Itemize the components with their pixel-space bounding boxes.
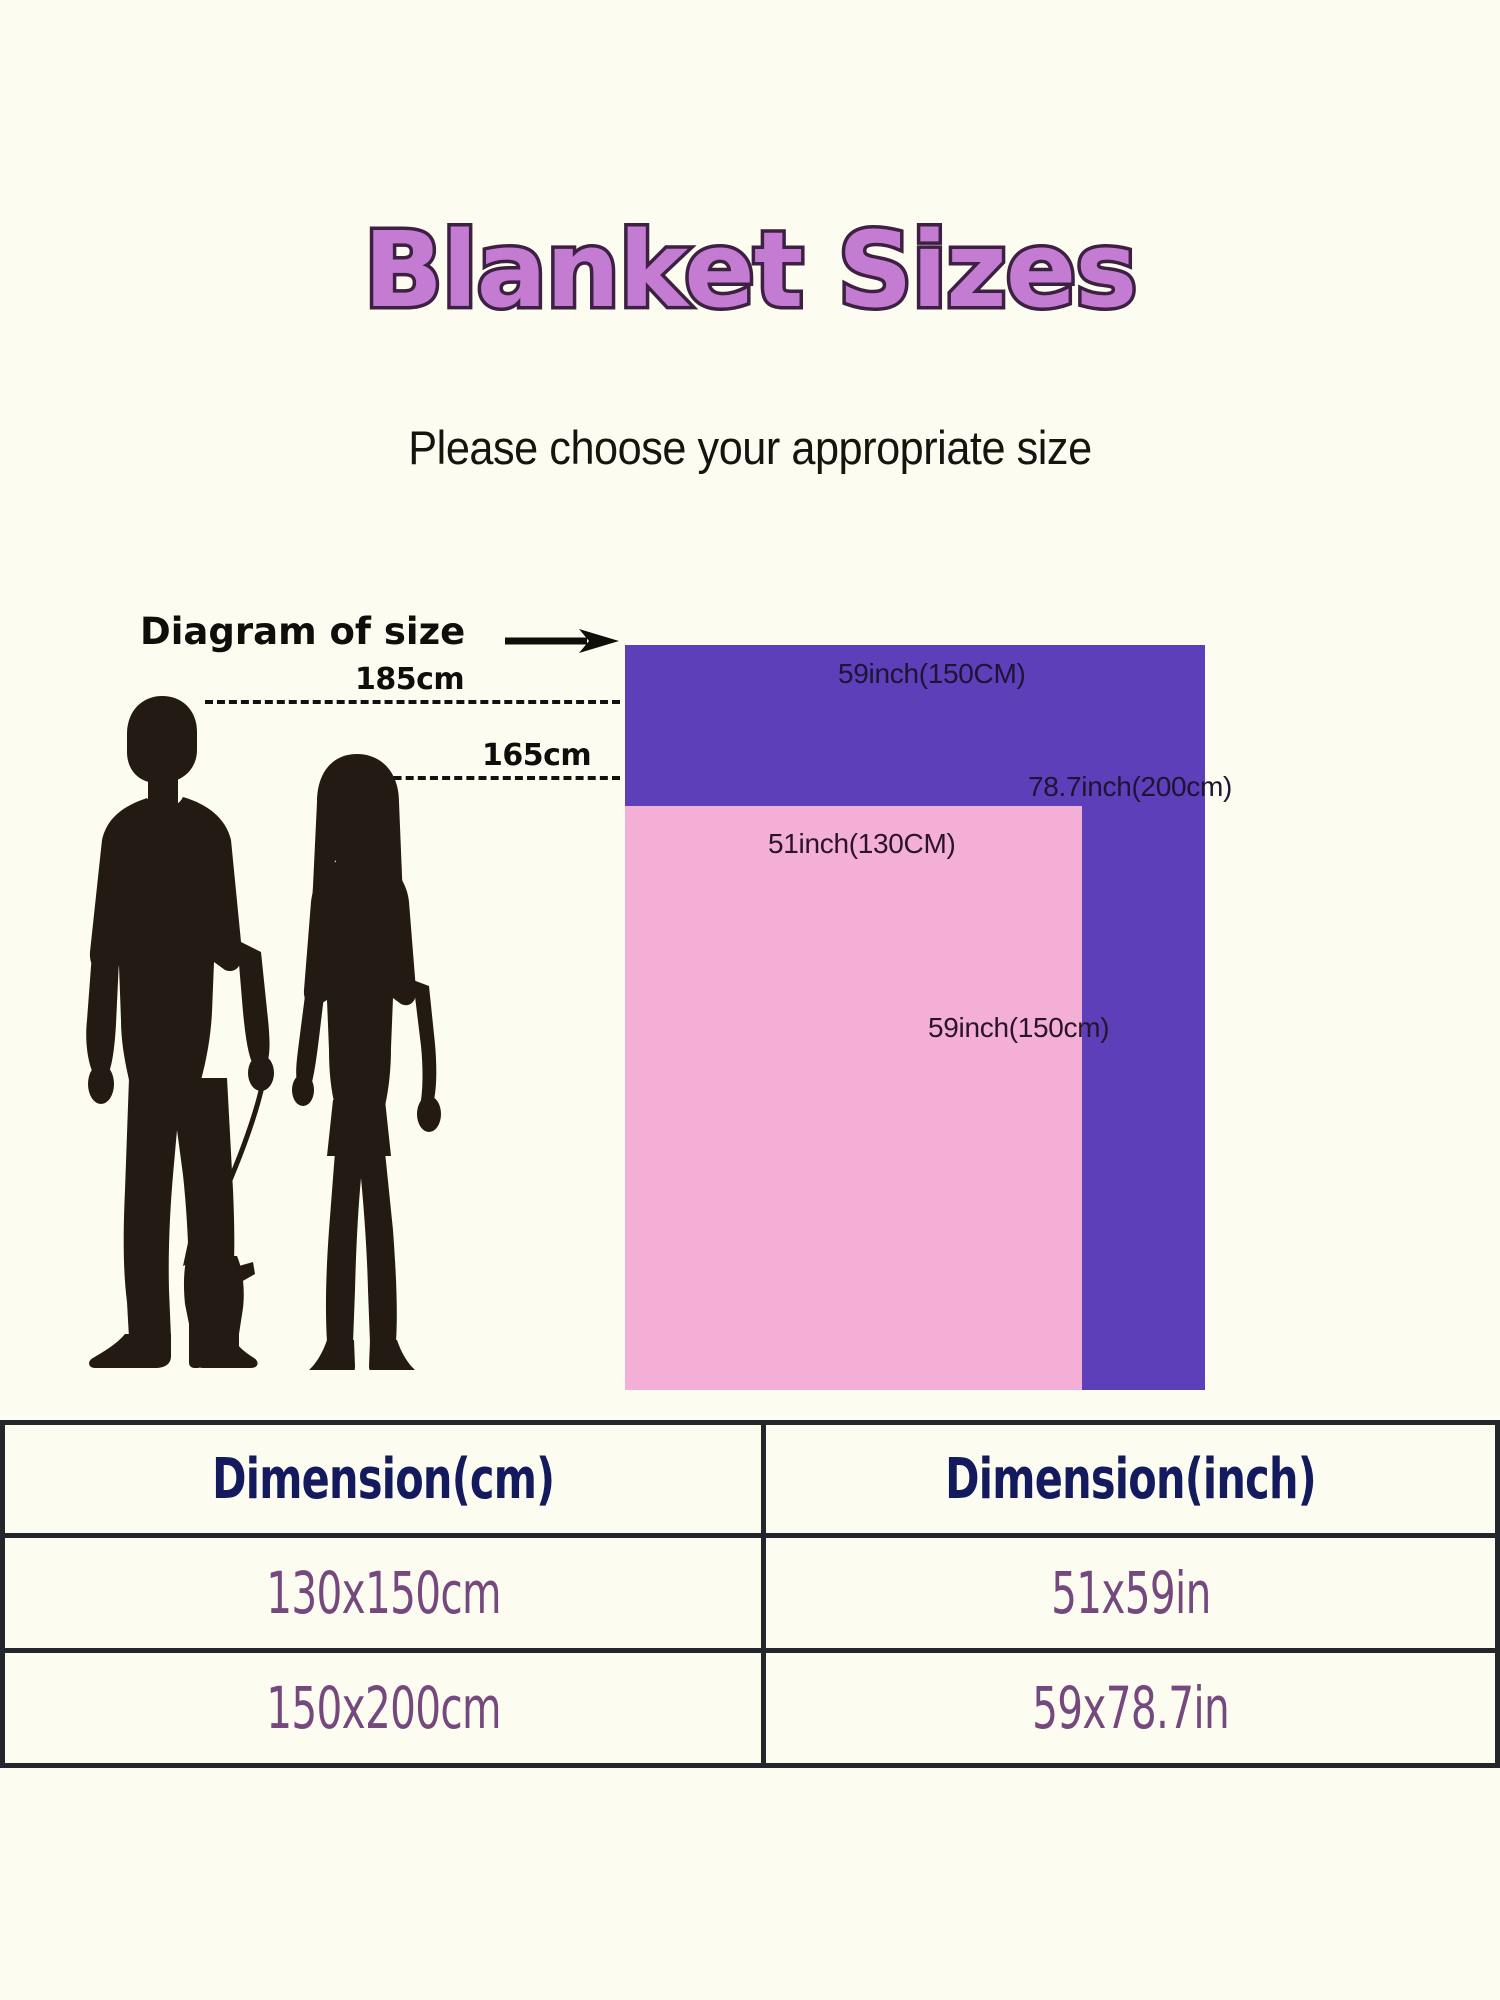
- table-cell-inch-value: 59x78.7in: [1032, 1674, 1229, 1742]
- woman-silhouette-icon: [292, 754, 441, 1370]
- blanket-small-height-label: 59inch(150cm): [928, 1012, 1109, 1044]
- table-header-cm-label: Dimension(cm): [212, 1447, 554, 1512]
- table-cell-inch: 59x78.7in: [764, 1651, 1498, 1766]
- diagram-of-size-label: Diagram of size: [140, 610, 465, 653]
- table-cell-inch: 51x59in: [764, 1536, 1498, 1651]
- table-header-cm: Dimension(cm): [3, 1423, 764, 1536]
- table-row: 130x150cm 51x59in: [3, 1536, 1498, 1651]
- table-row: 150x200cm 59x78.7in: [3, 1651, 1498, 1766]
- right-arrow-icon: [505, 628, 620, 654]
- size-table: Dimension(cm) Dimension(inch) 130x150cm …: [0, 1420, 1500, 1768]
- blanket-large-width-label: 59inch(150CM): [838, 658, 1026, 690]
- table-header-inch-label: Dimension(inch): [945, 1447, 1316, 1512]
- table-cell-cm: 150x200cm: [3, 1651, 764, 1766]
- table-cell-cm-value: 150x200cm: [266, 1674, 501, 1742]
- blanket-rect-small: [625, 806, 1082, 1390]
- people-silhouette-group: [85, 690, 505, 1370]
- dog-silhouette-icon: [183, 1230, 255, 1368]
- blanket-small-width-label: 51inch(130CM): [768, 828, 956, 860]
- table-cell-cm: 130x150cm: [3, 1536, 764, 1651]
- size-diagram: Diagram of size 185cm 165cm: [0, 0, 1500, 1420]
- blanket-large-height-label: 78.7inch(200cm): [1028, 771, 1232, 803]
- table-cell-cm-value: 130x150cm: [266, 1559, 501, 1627]
- table-cell-inch-value: 51x59in: [1051, 1559, 1210, 1627]
- table-header-inch: Dimension(inch): [764, 1423, 1498, 1536]
- table-header-row: Dimension(cm) Dimension(inch): [3, 1423, 1498, 1536]
